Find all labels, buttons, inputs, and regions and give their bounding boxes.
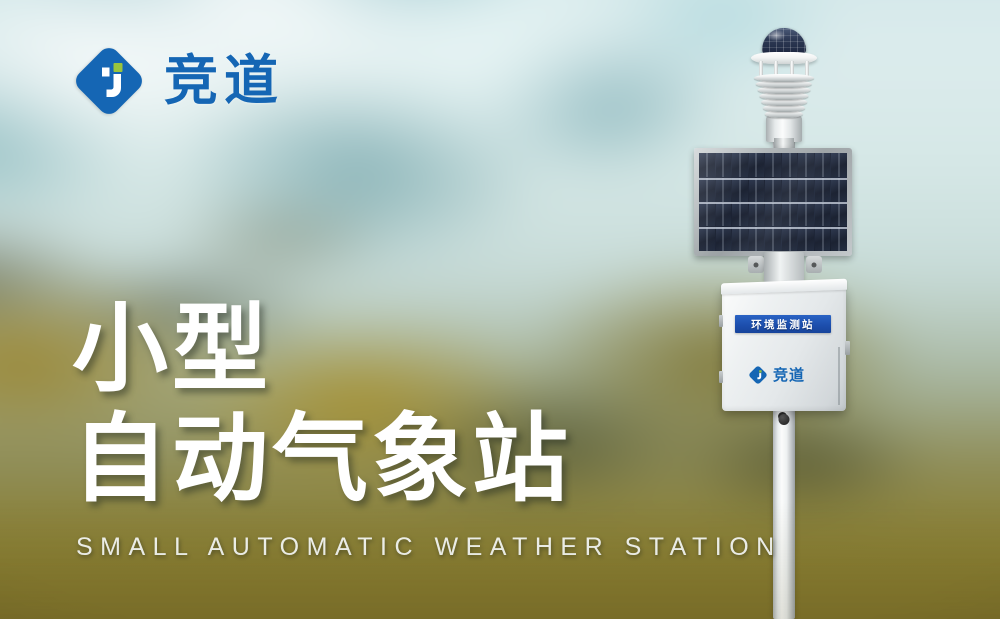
- solar-cell: [732, 203, 748, 227]
- solar-cell: [765, 178, 781, 202]
- solar-cell: [765, 153, 781, 177]
- solar-cell: [732, 178, 748, 202]
- solar-cell: [815, 178, 831, 202]
- jingdao-diamond-logo-icon: [72, 44, 146, 118]
- headline-line-2: 自动气象站: [72, 408, 782, 512]
- solar-cell: [699, 203, 715, 227]
- solar-cell: [782, 203, 798, 227]
- solar-cell: [798, 178, 814, 202]
- radiation-shield: [754, 74, 814, 118]
- solar-cell: [749, 178, 765, 202]
- logo-monogram-icon: [72, 44, 146, 118]
- headline-line-1: 小型: [72, 298, 782, 402]
- solar-cell: [798, 153, 814, 177]
- solar-cell: [765, 203, 781, 227]
- solar-cell: [716, 203, 732, 227]
- solar-cell-grid: [699, 153, 847, 251]
- solar-cell: [815, 203, 831, 227]
- solar-busbar: [699, 178, 847, 180]
- solar-cell: [716, 227, 732, 251]
- solar-cell: [831, 227, 847, 251]
- panel-bracket-ear: [806, 256, 822, 273]
- solar-cell: [782, 153, 798, 177]
- shield-louver-ring: [754, 74, 814, 82]
- solar-cell: [749, 203, 765, 227]
- solar-panel: [694, 148, 852, 256]
- solar-cell: [716, 153, 732, 177]
- solar-cell: [798, 203, 814, 227]
- solar-cell: [749, 153, 765, 177]
- solar-cell: [765, 227, 781, 251]
- solar-radiation-dome-icon: [762, 28, 806, 54]
- sensor-head: [738, 28, 830, 138]
- panel-bracket-ear: [748, 256, 764, 273]
- enclosure-top-lid: [721, 279, 847, 295]
- brand-logo[interactable]: 竞道: [72, 44, 284, 118]
- enclosure-latch: [845, 341, 850, 355]
- solar-cell: [699, 227, 715, 251]
- solar-cell: [798, 227, 814, 251]
- solar-cell: [831, 153, 847, 177]
- solar-cell: [831, 203, 847, 227]
- solar-cell: [815, 227, 831, 251]
- headline-subtitle: SMALL AUTOMATIC WEATHER STATION: [76, 533, 782, 562]
- solar-panel-bracket: [764, 252, 804, 282]
- enclosure-door-seam: [838, 347, 840, 405]
- solar-cell: [782, 178, 798, 202]
- solar-cell: [699, 153, 715, 177]
- solar-cell: [815, 153, 831, 177]
- solar-cell: [782, 227, 798, 251]
- solar-cell: [732, 227, 748, 251]
- solar-cell: [699, 178, 715, 202]
- headline-block: 小型 自动气象站 SMALL AUTOMATIC WEATHER STATION: [72, 298, 782, 562]
- brand-name: 竞道: [164, 54, 284, 108]
- solar-cell: [716, 178, 732, 202]
- solar-cell: [831, 178, 847, 202]
- solar-busbar: [699, 227, 847, 229]
- solar-cell: [749, 227, 765, 251]
- solar-busbar: [699, 202, 847, 204]
- product-hero-banner: 竞道 小型 自动气象站 SMALL AUTOMATIC WEATHER STAT…: [0, 0, 1000, 619]
- solar-panel-frame: [694, 148, 852, 256]
- solar-cell: [732, 153, 748, 177]
- dome-grid-pattern: [762, 28, 806, 54]
